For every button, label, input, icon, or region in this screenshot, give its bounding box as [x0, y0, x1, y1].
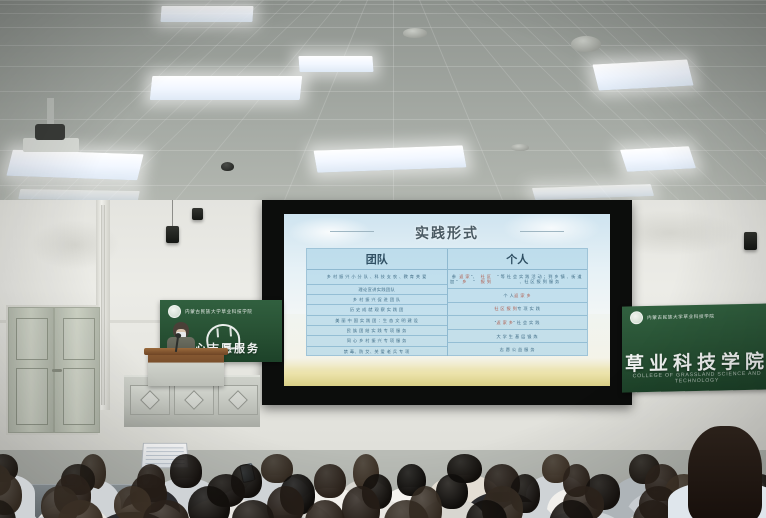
slide-table-row: 乡 村 振 兴 小 分 队 、科 技 支 农 、教 育 关 爱	[307, 270, 447, 285]
ceiling-grid-line	[0, 27, 766, 28]
led-panel	[161, 6, 254, 22]
ceiling-grid-line	[419, 0, 512, 222]
audience-seating	[0, 398, 766, 518]
smoke-detector-icon	[403, 28, 427, 38]
loudspeaker-icon	[166, 226, 179, 243]
projection-screen: 实践形式 团队 个人 乡 村 振 兴 小 分 队 、科 技 支 农 、教 育 关…	[262, 200, 632, 405]
led-panel	[593, 59, 694, 90]
wall-conduit-pipe	[101, 205, 105, 405]
slide-table-row: 美 丽 中 国 实 践 团 ：生 态 文 明 建 设	[307, 316, 447, 326]
smoke-detector-icon	[511, 144, 529, 151]
projector-bracket	[35, 124, 65, 140]
speaker-wire	[172, 200, 173, 226]
banner-right-org-line: 内蒙古民族大学草业科技学院	[647, 313, 715, 320]
ceiling-grid-line	[0, 4, 766, 5]
loudspeaker-icon	[744, 232, 757, 250]
slide-table-row: 民 族 团 结 实 践 专 项 服 务	[307, 326, 447, 336]
university-logo-icon	[630, 311, 643, 324]
projector-icon	[23, 120, 79, 154]
slide-table-row: 参加 “返 家 乡 ”、 “社 区 报 到 ” 等 社 会 实 践 活 动 ；到…	[448, 270, 588, 289]
slide-table-row: 同 心 乡 村 振 兴 专 项 服 务	[307, 336, 447, 346]
ceiling	[0, 0, 766, 222]
ceiling-grid-line	[0, 119, 766, 120]
audience-person-head	[314, 464, 346, 498]
slide-table-header-team: 团队	[307, 249, 448, 269]
loudspeaker-icon	[192, 208, 203, 220]
slide-table-row: 理论宣讲实践团队	[307, 285, 447, 295]
led-panel	[299, 56, 374, 72]
ceiling-grid-line	[34, 0, 265, 222]
led-panel	[7, 150, 144, 181]
slide-table-row: “ 返 家 乡 ” 社 会 实 践	[448, 316, 588, 330]
ceiling-grid-line	[275, 0, 368, 222]
slide-table-row: 乡 村 振 兴 促 进 团 队	[307, 295, 447, 305]
dome-camera-icon	[221, 162, 234, 171]
ceiling-grid-line	[0, 0, 766, 1]
podium	[148, 352, 224, 386]
slide-grass-background	[284, 358, 610, 386]
audience-person-foreground	[688, 426, 762, 518]
ceiling-speaker-icon	[571, 36, 601, 52]
slide-table-body: 乡 村 振 兴 小 分 队 、科 技 支 农 、教 育 关 爱理论宣讲实践团队乡…	[307, 270, 587, 356]
banner-left-org-line: 内蒙古民族大学草业科技学院	[185, 309, 253, 315]
ceiling-grid-line	[393, 0, 394, 222]
banner-right-subtitle: COLLEGE OF GRASSLAND SCIENCE AND TECHNOL…	[622, 370, 766, 385]
ceiling-grid-line	[0, 45, 766, 46]
slide-table-row: 社 区 报 到 专 项 实 践	[448, 303, 588, 317]
led-panel	[150, 76, 303, 100]
slide-table-row: 历 史 成 就 观 察 实 践 团	[307, 305, 447, 315]
slide-table-header-row: 团队 个人	[307, 249, 587, 270]
audience-person-head	[170, 454, 203, 488]
projector-mount-pole	[47, 98, 54, 124]
banner-right: 内蒙古民族大学草业科技学院 草业科技学院 COLLEGE OF GRASSLAN…	[622, 303, 766, 392]
door-handle[interactable]	[52, 369, 62, 372]
ceiling-grid-line	[157, 0, 342, 222]
slide-table-row: 个 人 返 家 乡	[448, 289, 588, 303]
ceiling-grid-line	[0, 13, 766, 14]
door-panel	[16, 318, 48, 360]
slide-table-row: 大 学 生 基 层 锻 炼	[448, 330, 588, 344]
slide-table: 团队 个人 乡 村 振 兴 小 分 队 、科 技 支 农 、教 育 关 爱理论宣…	[306, 248, 588, 356]
slide-table-column-individual: 参加 “返 家 乡 ”、 “社 区 报 到 ” 等 社 会 实 践 活 动 ；到…	[448, 270, 588, 356]
led-panel	[620, 146, 696, 172]
slide-table-row: 志 愿 公 益 服 务	[448, 343, 588, 356]
slide-table-column-team: 乡 村 振 兴 小 分 队 、科 技 支 农 、教 育 关 爱理论宣讲实践团队乡…	[307, 270, 448, 356]
slide-surface: 实践形式 团队 个人 乡 村 振 兴 小 分 队 、科 技 支 农 、教 育 关…	[284, 214, 610, 386]
university-logo-icon	[168, 305, 181, 318]
lecture-hall-photo: 实践形式 团队 个人 乡 村 振 兴 小 分 队 、科 技 支 农 、教 育 关…	[0, 0, 766, 518]
projector-body	[23, 138, 79, 152]
podium-top-surface	[144, 348, 228, 355]
slide-table-header-individual: 个人	[448, 249, 588, 269]
slide-title: 实践形式	[284, 223, 610, 243]
door-panel	[63, 318, 95, 360]
banner-left-logo-row: 内蒙古民族大学草业科技学院	[168, 305, 253, 318]
banner-right-logo-row: 内蒙古民族大学草业科技学院	[630, 310, 715, 325]
slide-table-row: 禁 毒、防 艾、关 爱 老 兵 专 项	[307, 347, 447, 356]
